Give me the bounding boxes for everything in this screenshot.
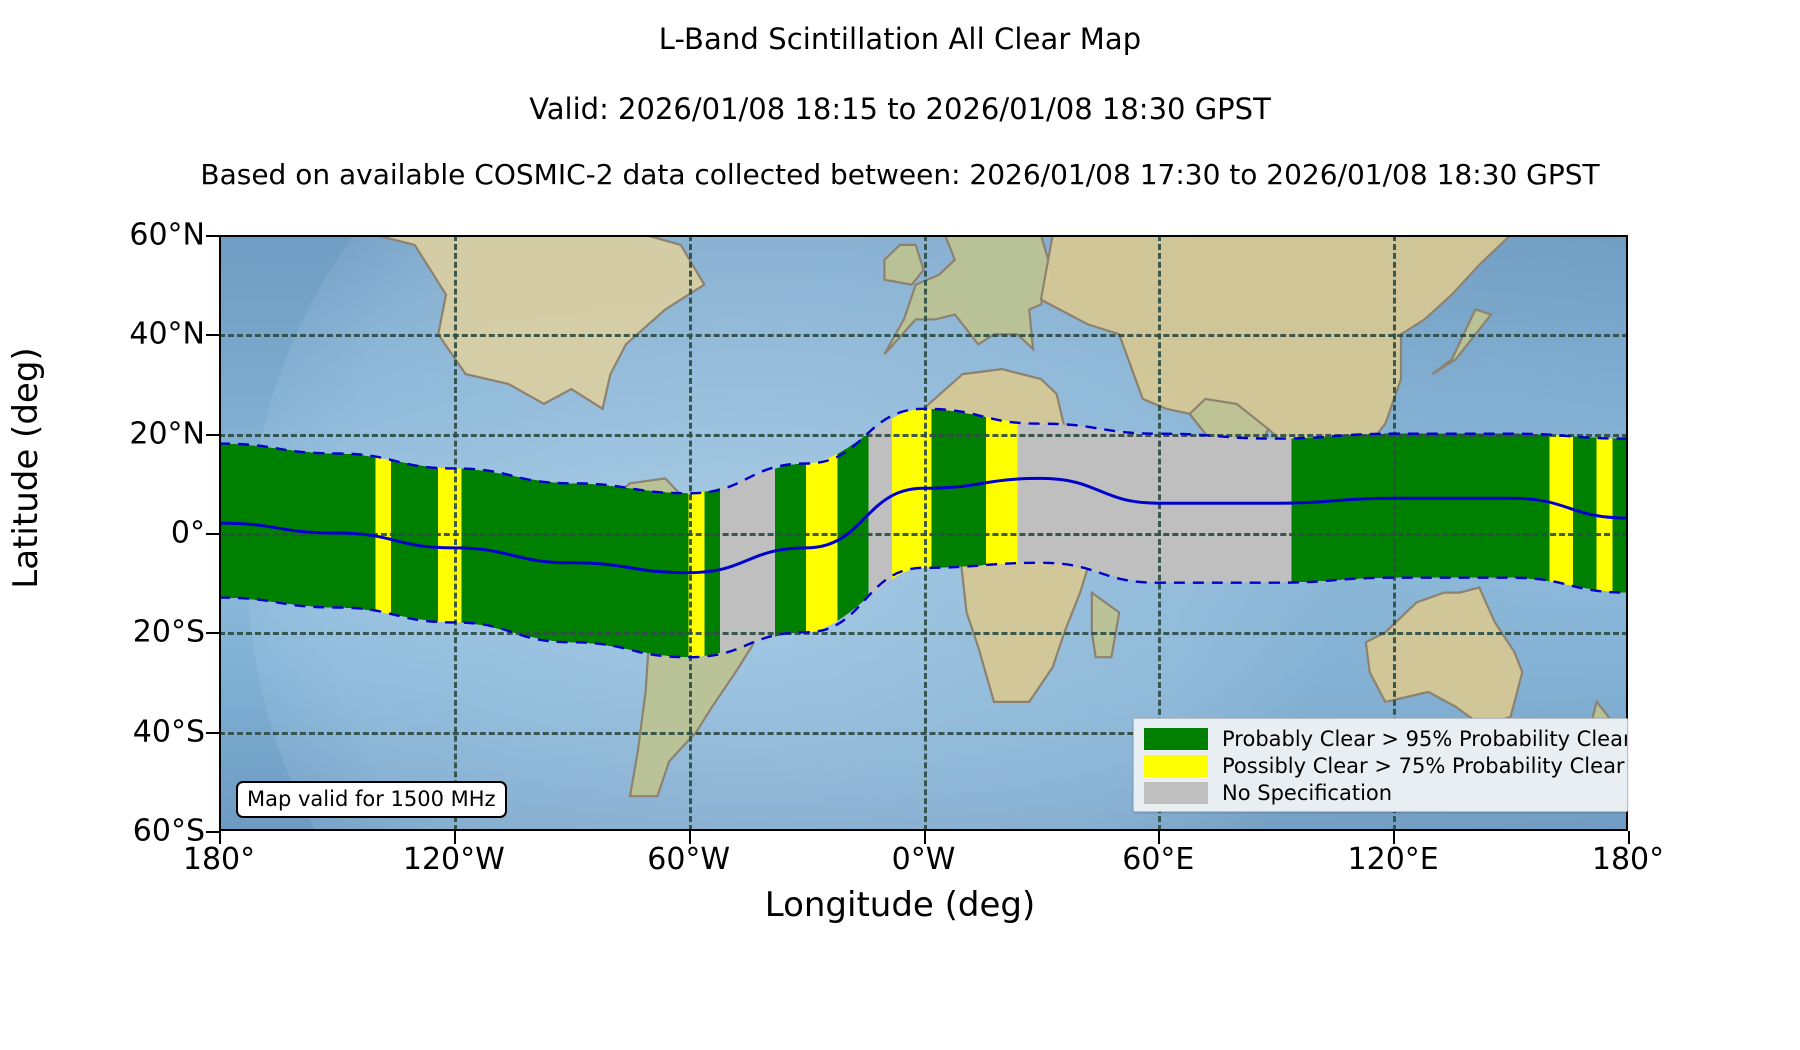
x-tick-mark--180 [219,831,221,844]
x-tick-mark-120 [1393,831,1395,844]
y-tick-label-60: 60°N [77,218,205,253]
y-tick-mark--40 [206,732,219,734]
y-tick-mark-20 [206,434,219,436]
x-tick-label-0: 0°W [824,842,1024,877]
legend-label-probably-clear: Probably Clear > 95% Probability Clear [1222,727,1628,751]
y-axis-label: Latitude (deg) [6,188,46,748]
x-tick-label--60: 60°W [589,842,789,877]
magnetic-equator-line [219,478,1628,572]
data-source-note: Based on available COSMIC-2 data collect… [0,158,1800,191]
legend-item-possibly-clear: Possibly Clear > 75% Probability Clear [1144,753,1625,779]
legend-swatch-possibly-clear [1144,755,1208,777]
legend-item-no-specification: No Specification [1144,780,1392,806]
x-axis-label: Longitude (deg) [0,885,1800,925]
legend-swatch-no-specification [1144,782,1208,804]
y-tick-label-20: 20°N [77,416,205,451]
x-tick-mark-60 [1158,831,1160,844]
y-tick-mark--20 [206,632,219,634]
legend-item-probably-clear: Probably Clear > 95% Probability Clear [1144,726,1628,752]
x-tick-label-180: 180° [1528,842,1728,877]
y-tick-mark-40 [206,334,219,336]
scintillation-upper-boundary [219,409,1628,494]
y-tick-label--20: 20°S [77,615,205,650]
map-legend: Probably Clear > 95% Probability ClearPo… [1133,718,1628,812]
y-tick-mark-60 [206,235,219,237]
y-tick-label-0: 0° [77,516,205,551]
x-tick-mark--60 [689,831,691,844]
y-tick-mark--60 [206,831,219,833]
y-tick-label--40: 40°S [77,714,205,749]
x-tick-label--180: 180° [119,842,319,877]
page-title: L-Band Scintillation All Clear Map [0,22,1800,56]
x-tick-mark--120 [454,831,456,844]
x-tick-mark-0 [924,831,926,844]
x-tick-mark-180 [1628,831,1630,844]
legend-swatch-probably-clear [1144,728,1208,750]
x-tick-label--120: 120°W [354,842,554,877]
scintillation-map-page: L-Band Scintillation All Clear Map Valid… [0,0,1800,1050]
y-tick-mark-0 [206,533,219,535]
legend-label-no-specification: No Specification [1222,781,1392,805]
scintillation-lower-boundary [219,563,1628,657]
x-tick-label-120: 120°E [1293,842,1493,877]
x-tick-label-60: 60°E [1058,842,1258,877]
legend-label-possibly-clear: Possibly Clear > 75% Probability Clear [1222,754,1625,778]
valid-period: Valid: 2026/01/08 18:15 to 2026/01/08 18… [0,92,1800,126]
y-tick-label-40: 40°N [77,317,205,352]
frequency-annotation: Map valid for 1500 MHz [236,781,507,818]
